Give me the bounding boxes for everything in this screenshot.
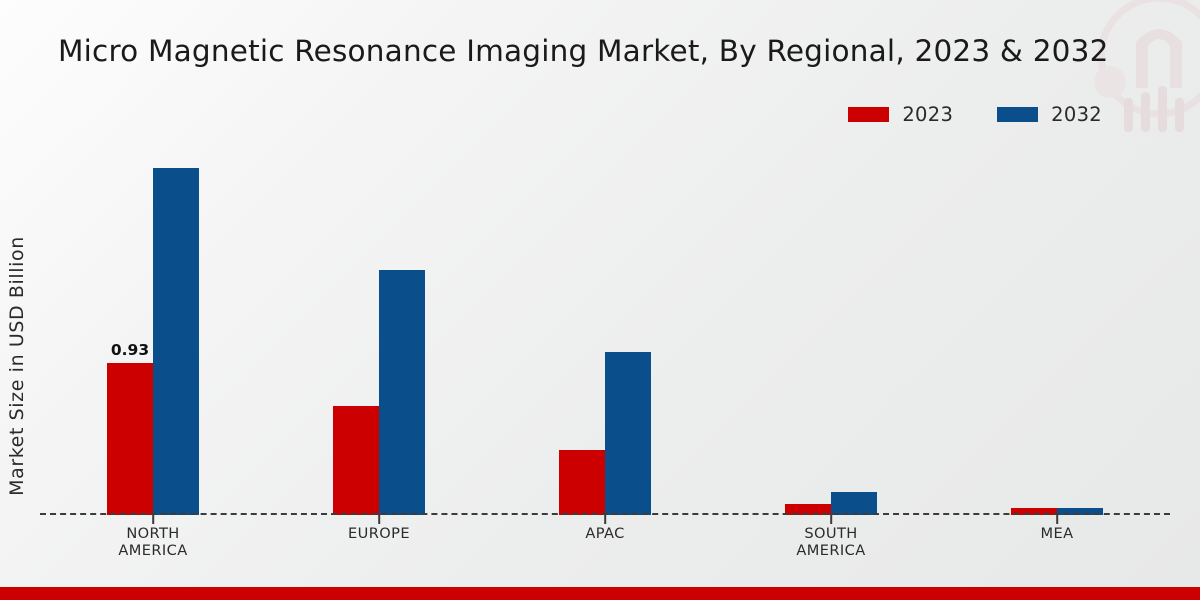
chart-title: Micro Magnetic Resonance Imaging Market,… bbox=[58, 34, 1109, 68]
bar-group: 0.93NORTH AMERICA bbox=[40, 140, 266, 515]
bar-groups: 0.93NORTH AMERICAEUROPEAPACSOUTH AMERICA… bbox=[40, 140, 1170, 515]
x-axis-tick bbox=[1056, 515, 1058, 524]
bar-value-label: 0.93 bbox=[111, 341, 149, 359]
legend-label-2023: 2023 bbox=[902, 103, 953, 126]
x-axis-category-label: NORTH AMERICA bbox=[118, 525, 187, 559]
bar-pair bbox=[1011, 140, 1103, 515]
chart-legend: 2023 2032 bbox=[848, 103, 1102, 126]
x-axis-tick bbox=[378, 515, 380, 524]
x-axis-baseline bbox=[40, 513, 1170, 515]
bar-group: SOUTH AMERICA bbox=[718, 140, 944, 515]
bar-2032[interactable] bbox=[831, 492, 877, 515]
bar-pair bbox=[333, 140, 425, 515]
plot-area: 0.93NORTH AMERICAEUROPEAPACSOUTH AMERICA… bbox=[40, 140, 1170, 515]
legend-item-2032[interactable]: 2032 bbox=[997, 103, 1102, 126]
x-axis-tick bbox=[830, 515, 832, 524]
bar-pair bbox=[785, 140, 877, 515]
bar-2023[interactable] bbox=[559, 450, 605, 515]
legend-swatch-2032 bbox=[997, 107, 1038, 122]
footer-accent-bar bbox=[0, 587, 1200, 600]
x-axis-category-label: SOUTH AMERICA bbox=[796, 525, 865, 559]
bar-pair bbox=[559, 140, 651, 515]
x-axis-tick bbox=[604, 515, 606, 524]
bar-2032[interactable] bbox=[379, 270, 425, 515]
chart-container: Micro Magnetic Resonance Imaging Market,… bbox=[0, 0, 1200, 600]
legend-label-2032: 2032 bbox=[1051, 103, 1102, 126]
bar-group: APAC bbox=[492, 140, 718, 515]
x-axis-category-label: EUROPE bbox=[348, 525, 410, 542]
bar-2032[interactable] bbox=[605, 352, 651, 515]
bar-2023[interactable] bbox=[333, 406, 379, 515]
legend-item-2023[interactable]: 2023 bbox=[848, 103, 953, 126]
bar-pair: 0.93 bbox=[107, 140, 199, 515]
bar-2023[interactable] bbox=[107, 363, 153, 515]
legend-swatch-2023 bbox=[848, 107, 889, 122]
x-axis-category-label: APAC bbox=[585, 525, 624, 542]
x-axis-category-label: MEA bbox=[1041, 525, 1074, 542]
bar-group: MEA bbox=[944, 140, 1170, 515]
y-axis-title: Market Size in USD Billion bbox=[6, 196, 28, 536]
x-axis-tick bbox=[152, 515, 154, 524]
bar-2032[interactable] bbox=[153, 168, 199, 515]
bar-group: EUROPE bbox=[266, 140, 492, 515]
